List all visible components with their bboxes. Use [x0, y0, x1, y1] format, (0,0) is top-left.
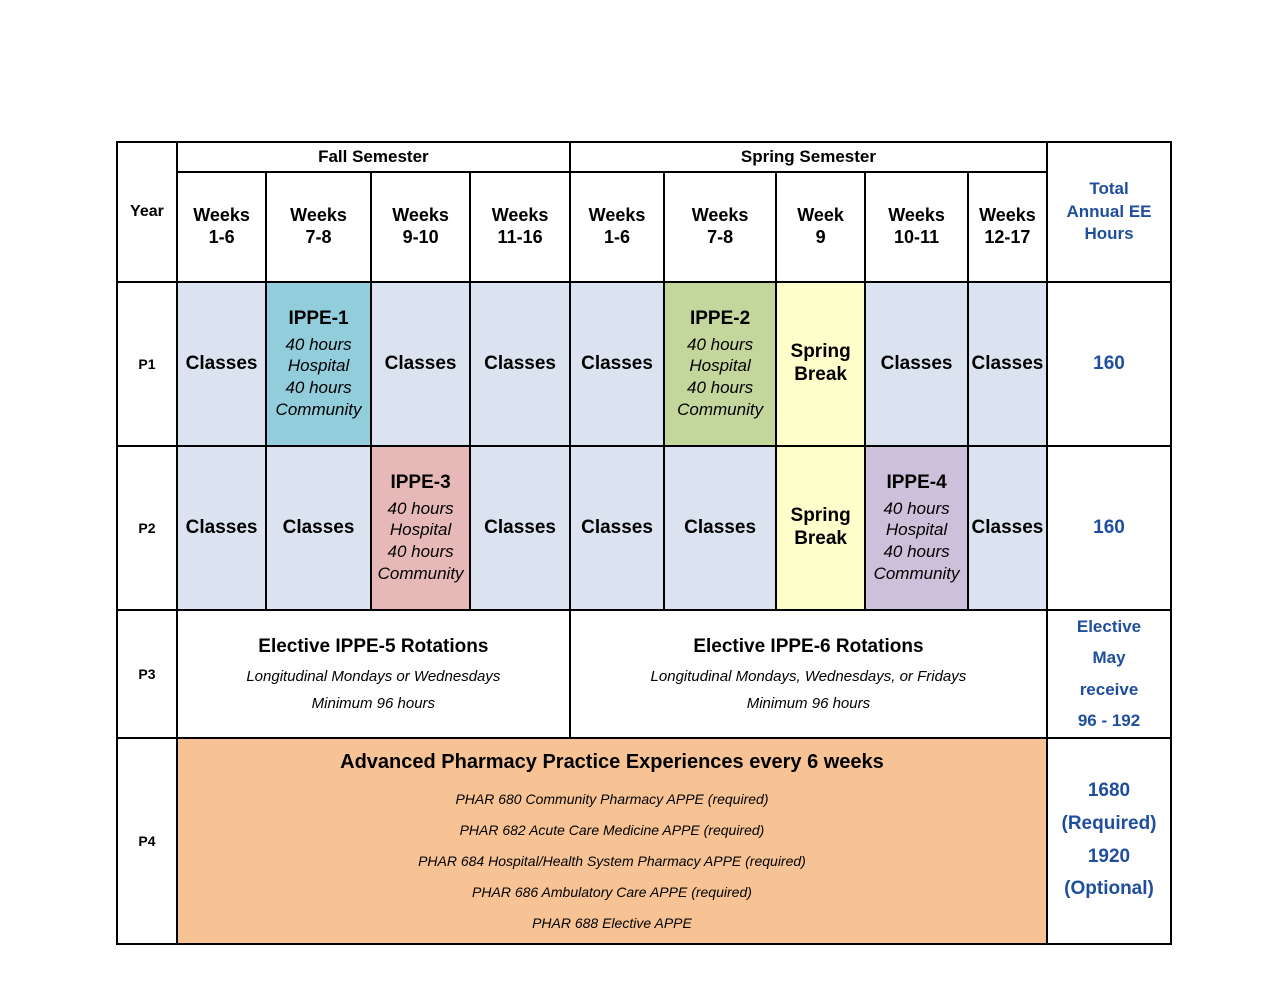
p4-total-line-3: 1920: [1048, 841, 1170, 874]
ippe-2-title: IPPE-2: [666, 307, 774, 331]
table-row-p2: P2 Classes Classes IPPE-3 40 hours Hospi…: [117, 446, 1171, 610]
week-label: Weeks: [888, 205, 945, 225]
week-range: 7-8: [707, 227, 733, 247]
header-year-cell: Year: [117, 142, 177, 282]
ippe-4-title: IPPE-4: [867, 471, 966, 495]
header-week-spring-9: Week 9: [776, 172, 865, 282]
spring-break-line-2: Break: [794, 364, 847, 385]
ippe-2-line-4: Community: [666, 399, 774, 421]
ippe-4-line-4: Community: [867, 563, 966, 585]
header-total-annual-ee-hours: Total Annual EE Hours: [1047, 142, 1171, 282]
p1-ippe-1-cell: IPPE-1 40 hours Hospital 40 hours Commun…: [266, 282, 371, 446]
p1-fall-1-6-classes: Classes: [177, 282, 266, 446]
total-head-line1: Total: [1089, 179, 1128, 198]
ippe-1-line-1: 40 hours: [268, 334, 369, 356]
week-label: Weeks: [589, 205, 646, 225]
ippe-1-title: IPPE-1: [268, 307, 369, 331]
elective-ippe-5-title: Elective IPPE-5 Rotations: [184, 637, 563, 656]
ippe-3-line-1: 40 hours: [373, 498, 469, 520]
ippe-3-line-4: Community: [373, 563, 469, 585]
week-label: Weeks: [193, 205, 250, 225]
elective-ippe-6-title: Elective IPPE-6 Rotations: [577, 637, 1040, 656]
p4-appe-cell: Advanced Pharmacy Practice Experiences e…: [177, 738, 1047, 944]
table-row-p3: P3 Elective IPPE-5 Rotations Longitudina…: [117, 610, 1171, 738]
p4-total-hours-stack: 1680 (Required) 1920 (Optional): [1048, 775, 1170, 906]
row-label-p1: P1: [117, 282, 177, 446]
header-week-spring-10-11: Weeks 10-11: [865, 172, 968, 282]
ippe-3-block: IPPE-3 40 hours Hospital 40 hours Commun…: [372, 468, 470, 587]
elective-ippe-6-block: Elective IPPE-6 Rotations Longitudinal M…: [571, 629, 1046, 719]
spring-break-text: Spring Break: [777, 505, 864, 551]
ippe-4-line-2: Hospital: [867, 519, 966, 541]
header-week-fall-11-16: Weeks 11-16: [470, 172, 570, 282]
elective-ippe-5-sub-1: Longitudinal Mondays or Wednesdays: [184, 669, 563, 684]
appe-item: PHAR 686 Ambulatory Care APPE (required): [184, 884, 1040, 900]
p1-spring-12-17-classes: Classes: [968, 282, 1047, 446]
p3-total-line-1: Elective: [1048, 611, 1170, 642]
ippe-1-line-2: Hospital: [268, 355, 369, 377]
p3-total-line-2: May: [1048, 642, 1170, 673]
p3-total-hours: Elective May receive 96 - 192: [1047, 610, 1171, 738]
header-week-spring-1-6: Weeks 1-6: [570, 172, 664, 282]
elective-ippe-6-sub-1: Longitudinal Mondays, Wednesdays, or Fri…: [577, 669, 1040, 684]
week-label: Weeks: [492, 205, 549, 225]
curriculum-table: Year Fall Semester Spring Semester Total…: [116, 141, 1172, 945]
p2-ippe-4-cell: IPPE-4 40 hours Hospital 40 hours Commun…: [865, 446, 968, 610]
p1-total-hours: 160: [1047, 282, 1171, 446]
ippe-4-line-1: 40 hours: [867, 498, 966, 520]
p1-spring-1-6-classes: Classes: [570, 282, 664, 446]
header-fall-semester: Fall Semester: [177, 142, 570, 172]
row-label-p4: P4: [117, 738, 177, 944]
week-label: Weeks: [392, 205, 449, 225]
p3-total-line-4: 96 - 192: [1048, 705, 1170, 736]
p4-total-line-1: 1680: [1048, 775, 1170, 808]
week-range: 11-16: [498, 227, 543, 247]
week-range: 1-6: [604, 227, 630, 247]
appe-title: Advanced Pharmacy Practice Experiences e…: [184, 751, 1040, 774]
elective-ippe-6-sub-2: Minimum 96 hours: [577, 696, 1040, 711]
p3-fall-elective-cell: Elective IPPE-5 Rotations Longitudinal M…: [177, 610, 570, 738]
week-range: 12-17: [984, 227, 1030, 247]
total-head-line2: Annual EE: [1067, 202, 1152, 221]
p3-spring-elective-cell: Elective IPPE-6 Rotations Longitudinal M…: [570, 610, 1047, 738]
ippe-1-block: IPPE-1 40 hours Hospital 40 hours Commun…: [267, 304, 370, 423]
p1-fall-9-10-classes: Classes: [371, 282, 471, 446]
header-week-fall-7-8: Weeks 7-8: [266, 172, 371, 282]
row-label-p3: P3: [117, 610, 177, 738]
p1-spring-break-cell: Spring Break: [776, 282, 865, 446]
table-row-p4: P4 Advanced Pharmacy Practice Experience…: [117, 738, 1171, 944]
ippe-4-block: IPPE-4 40 hours Hospital 40 hours Commun…: [866, 468, 967, 587]
header-semester-row: Year Fall Semester Spring Semester Total…: [117, 142, 1171, 172]
p2-spring-7-8-classes: Classes: [664, 446, 776, 610]
ippe-2-line-3: 40 hours: [666, 377, 774, 399]
p2-fall-11-16-classes: Classes: [470, 446, 570, 610]
header-week-spring-7-8: Weeks 7-8: [664, 172, 776, 282]
elective-ippe-5-block: Elective IPPE-5 Rotations Longitudinal M…: [178, 629, 569, 719]
spring-break-text: Spring Break: [777, 341, 864, 387]
ippe-2-block: IPPE-2 40 hours Hospital 40 hours Commun…: [665, 304, 775, 423]
p2-spring-12-17-classes: Classes: [968, 446, 1047, 610]
ippe-3-line-3: 40 hours: [373, 541, 469, 563]
ippe-3-line-2: Hospital: [373, 519, 469, 541]
p4-total-line-4: (Optional): [1048, 873, 1170, 906]
p2-spring-1-6-classes: Classes: [570, 446, 664, 610]
appe-item: PHAR 684 Hospital/Health System Pharmacy…: [184, 853, 1040, 869]
header-spring-semester: Spring Semester: [570, 142, 1047, 172]
header-week-fall-1-6: Weeks 1-6: [177, 172, 266, 282]
week-range: 10-11: [894, 227, 939, 247]
spring-break-line-1: Spring: [791, 505, 851, 526]
p3-total-hours-stack: Elective May receive 96 - 192: [1048, 611, 1170, 737]
spring-break-line-2: Break: [794, 528, 847, 549]
week-label: Weeks: [290, 205, 347, 225]
appe-item: PHAR 680 Community Pharmacy APPE (requir…: [184, 791, 1040, 807]
header-week-fall-9-10: Weeks 9-10: [371, 172, 471, 282]
week-label: Weeks: [692, 205, 749, 225]
appe-block: Advanced Pharmacy Practice Experiences e…: [178, 739, 1046, 943]
table-row-p1: P1 Classes IPPE-1 40 hours Hospital 40 h…: [117, 282, 1171, 446]
ippe-2-line-1: 40 hours: [666, 334, 774, 356]
p1-spring-10-11-classes: Classes: [865, 282, 968, 446]
week-label: Week: [797, 205, 844, 225]
week-range: 1-6: [209, 227, 235, 247]
ippe-2-line-2: Hospital: [666, 355, 774, 377]
p2-fall-1-6-classes: Classes: [177, 446, 266, 610]
p1-fall-11-16-classes: Classes: [470, 282, 570, 446]
header-week-spring-12-17: Weeks 12-17: [968, 172, 1047, 282]
ippe-1-line-3: 40 hours: [268, 377, 369, 399]
week-range: 9-10: [403, 227, 439, 247]
spring-break-line-1: Spring: [791, 341, 851, 362]
week-range: 9: [816, 227, 826, 247]
appe-item: PHAR 688 Elective APPE: [184, 915, 1040, 931]
ippe-3-title: IPPE-3: [373, 471, 469, 495]
ippe-4-line-3: 40 hours: [867, 541, 966, 563]
appe-item: PHAR 682 Acute Care Medicine APPE (requi…: [184, 822, 1040, 838]
ippe-1-line-4: Community: [268, 399, 369, 421]
p3-total-line-3: receive: [1048, 674, 1170, 705]
total-head-line3: Hours: [1084, 224, 1133, 243]
p1-ippe-2-cell: IPPE-2 40 hours Hospital 40 hours Commun…: [664, 282, 776, 446]
p4-total-line-2: (Required): [1048, 808, 1170, 841]
p2-spring-break-cell: Spring Break: [776, 446, 865, 610]
p2-ippe-3-cell: IPPE-3 40 hours Hospital 40 hours Commun…: [371, 446, 471, 610]
p4-total-hours: 1680 (Required) 1920 (Optional): [1047, 738, 1171, 944]
week-range: 7-8: [306, 227, 332, 247]
elective-ippe-5-sub-2: Minimum 96 hours: [184, 696, 563, 711]
header-weeks-row: Weeks 1-6 Weeks 7-8 Weeks 9-10 Weeks 11-…: [117, 172, 1171, 282]
week-label: Weeks: [979, 205, 1036, 225]
p2-total-hours: 160: [1047, 446, 1171, 610]
row-label-p2: P2: [117, 446, 177, 610]
p2-fall-7-8-classes: Classes: [266, 446, 371, 610]
